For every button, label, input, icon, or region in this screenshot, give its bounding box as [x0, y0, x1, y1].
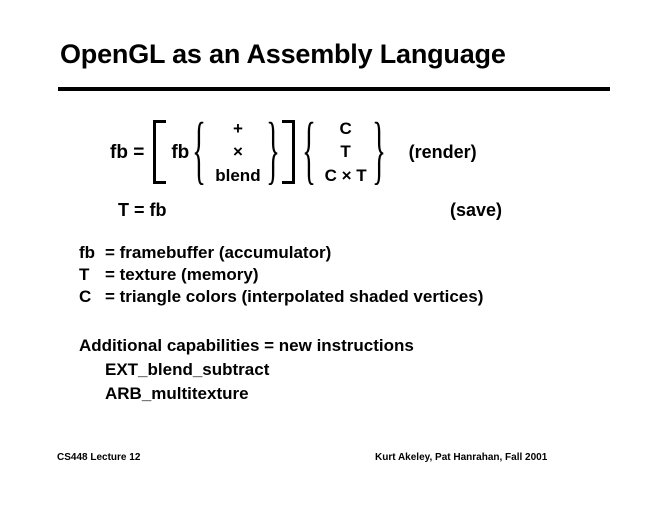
save-expression: T = fb — [118, 200, 167, 221]
definition-list: fb= framebuffer (accumulator) T= texture… — [79, 242, 483, 308]
close-curly-brace-operators: } — [267, 116, 283, 188]
operator-option: × — [233, 140, 243, 163]
operator-options-stack: + × blend — [209, 117, 266, 187]
definition-text: = texture (memory) — [105, 265, 259, 284]
render-annotation: (render) — [409, 143, 477, 161]
definition-text: = framebuffer (accumulator) — [105, 243, 331, 262]
open-curly-brace-sources: { — [303, 116, 319, 188]
capability-item: EXT_blend_subtract — [79, 358, 414, 382]
definition-row: C= triangle colors (interpolated shaded … — [79, 286, 483, 308]
capabilities-section: Additional capabilities = new instructio… — [79, 334, 414, 406]
save-annotation: (save) — [450, 200, 502, 221]
open-square-bracket — [151, 116, 165, 188]
definition-text: = triangle colors (interpolated shaded v… — [105, 287, 483, 306]
definition-row: T= texture (memory) — [79, 264, 483, 286]
footer-lecture-label: CS448 Lecture 12 — [57, 452, 140, 463]
title-underline-rule — [58, 87, 610, 91]
source-option: T — [340, 140, 350, 163]
render-formula: fb = fb { + × blend } { C T C × T — [110, 112, 477, 192]
page-title: OpenGL as an Assembly Language — [60, 39, 506, 70]
capability-item: ARB_multitexture — [79, 382, 414, 406]
definition-row: fb= framebuffer (accumulator) — [79, 242, 483, 264]
definition-symbol: fb — [79, 242, 105, 264]
close-curly-brace-sources: } — [373, 116, 389, 188]
slide-canvas: OpenGL as an Assembly Language fb = fb {… — [0, 0, 660, 510]
capabilities-heading: Additional capabilities = new instructio… — [79, 334, 414, 358]
source-option: C × T — [325, 164, 367, 187]
source-option: C — [339, 117, 351, 140]
definition-symbol: C — [79, 286, 105, 308]
open-curly-brace-operators: { — [193, 116, 209, 188]
close-square-bracket — [283, 116, 297, 188]
formula-lhs: fb = — [110, 143, 144, 162]
operator-option: blend — [215, 164, 260, 187]
operator-option: + — [233, 117, 243, 140]
definition-symbol: T — [79, 264, 105, 286]
footer-authors-label: Kurt Akeley, Pat Hanrahan, Fall 2001 — [375, 452, 547, 463]
source-options-stack: C T C × T — [319, 117, 373, 187]
formula-inner-operand: fb — [171, 143, 189, 162]
save-formula: T = fb (save) — [118, 200, 518, 221]
